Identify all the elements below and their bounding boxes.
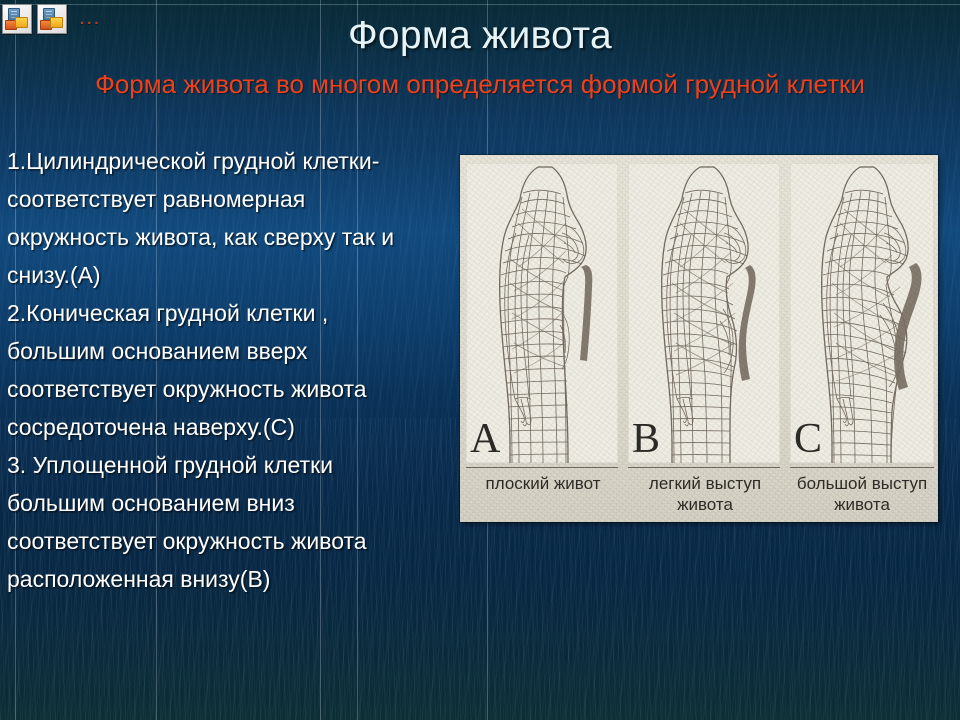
figure-caption-b: легкий выступ живота (626, 473, 784, 515)
page-subtitle: Форма живота во многом определяется форм… (0, 71, 960, 97)
panel-letter-c: C (794, 418, 822, 460)
body-line: 1.Цилиндрической грудной клетки- (7, 142, 459, 180)
slide-canvas: ... Форма живота Форма живота во многом … (0, 0, 960, 720)
caption-rule (628, 467, 780, 468)
figure-caption-c: большой выступ живота (788, 473, 936, 515)
caption-rule (790, 467, 934, 468)
guide-line-horizontal (0, 4, 960, 5)
body-line: большим основанием вниз (7, 484, 459, 522)
body-line: соответствует окружность живота (7, 370, 459, 408)
body-line: большим основанием вверх (7, 332, 459, 370)
figure-caption-c-text: большой выступ живота (797, 474, 927, 514)
panel-letter-b: B (632, 418, 660, 460)
body-line: соответствует равномерная (7, 180, 459, 218)
body-line: сосредоточена наверху.(С) (7, 408, 459, 446)
page-title: Форма живота (0, 16, 960, 55)
body-line: окружность живота, как сверху так и (7, 218, 459, 256)
body-line: расположенная внизу(В) (7, 560, 459, 598)
panel-letter-a: A (470, 418, 500, 460)
body-line: 3. Уплощенной грудной клетки (7, 446, 459, 484)
caption-rule (466, 467, 618, 468)
figure-caption-b-text: легкий выступ живота (649, 474, 761, 514)
figure-image[interactable]: A B C плоский живот легкий выступ живота… (460, 155, 938, 522)
body-text-block: 1.Цилиндрической грудной клетки- соответ… (7, 142, 459, 598)
figure-caption-a-text: плоский живот (486, 474, 601, 493)
body-line: 2.Коническая грудной клетки , (7, 294, 459, 332)
body-line: снизу.(А) (7, 256, 459, 294)
body-line: соответствует окружность живота (7, 522, 459, 560)
figure-caption-a: плоский живот (464, 473, 622, 494)
